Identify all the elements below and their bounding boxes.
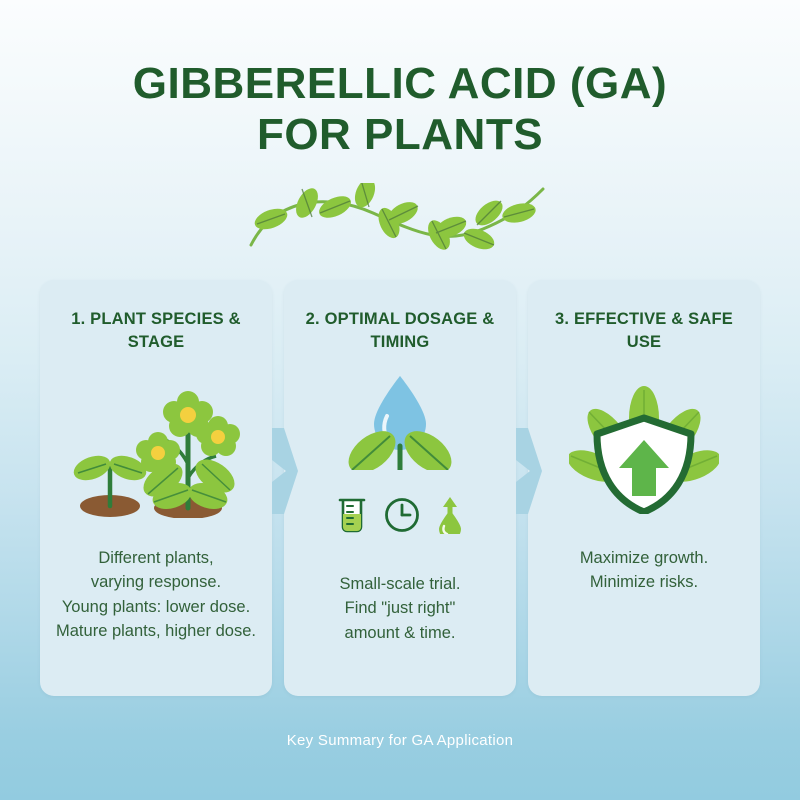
water-droplet-leaves-icon [284, 372, 516, 470]
title-line-1: GIBBERELLIC ACID (GA) [0, 58, 800, 109]
clock-icon [383, 496, 421, 539]
plant-growth-stages-icon [40, 368, 272, 518]
leafy-vine-icon [243, 183, 557, 255]
card-3-body: Maximize growth. Minimize risks. [538, 546, 750, 595]
card-2-mini-icon-row [284, 496, 516, 539]
chevron-right-connector-2 [516, 428, 542, 514]
card-plant-species-stage[interactable]: 1. PLANT SPECIES & STAGE [40, 280, 272, 696]
page-title: GIBBERELLIC ACID (GA) FOR PLANTS [0, 58, 800, 160]
card-1-body: Different plants, varying response. Youn… [50, 546, 262, 643]
steps-container: 1. PLANT SPECIES & STAGE [40, 280, 760, 696]
card-2-body: Small-scale trial. Find "just right" amo… [294, 572, 506, 645]
footer-caption: Key Summary for GA Application [0, 732, 800, 749]
card-3-heading: 3. EFFECTIVE & SAFE USE [540, 308, 748, 355]
beaker-icon [337, 496, 367, 539]
card-effective-safe-use[interactable]: 3. EFFECTIVE & SAFE USE [528, 280, 760, 696]
shield-leaves-arrow-up-icon [528, 364, 760, 514]
droplet-arrow-up-icon [437, 496, 463, 539]
title-line-2: FOR PLANTS [0, 109, 800, 160]
chevron-right-connector-1 [272, 428, 298, 514]
card-1-heading: 1. PLANT SPECIES & STAGE [52, 308, 260, 355]
card-optimal-dosage-timing[interactable]: 2. OPTIMAL DOSAGE & TIMING [284, 280, 516, 696]
card-2-heading: 2. OPTIMAL DOSAGE & TIMING [296, 308, 504, 355]
